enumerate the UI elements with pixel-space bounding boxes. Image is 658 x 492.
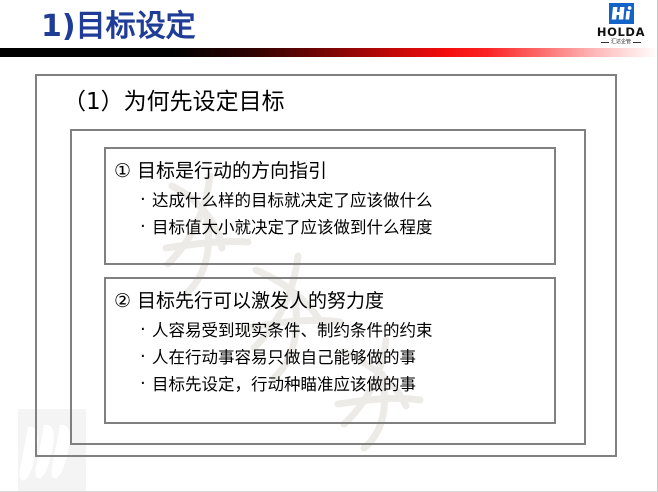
page-title: 1)目标设定	[41, 8, 196, 46]
item-1-heading: ①目标是行动的方向指引	[114, 158, 554, 184]
item-2-number: ②	[114, 290, 131, 312]
list-item: 目标值大小就决定了应该做到什么程度	[106, 214, 554, 241]
list-item: 人在行动事容易只做自己能够做的事	[106, 344, 554, 371]
content-middle-box: ①目标是行动的方向指引 达成什么样的目标就决定了应该做什么 目标值大小就决定了应…	[70, 129, 586, 445]
logo-mark-icon	[609, 3, 634, 24]
logo-wordmark: HOLDA	[593, 26, 649, 38]
logo-rule-right	[633, 42, 641, 43]
item-2-bullet-list: 人容易受到现实条件、制约条件的约束 人在行动事容易只做自己能够做的事 目标先设定…	[106, 317, 554, 398]
item-1-heading-text: 目标是行动的方向指引	[137, 160, 327, 182]
section-heading: （1）为何先设定目标	[63, 86, 285, 118]
item-box-1: ①目标是行动的方向指引 达成什么样的目标就决定了应该做什么 目标值大小就决定了应…	[104, 147, 556, 265]
slide-canvas: 1)目标设定 HOLDA 汇达企管	[0, 0, 658, 492]
item-2-heading-text: 目标先行可以激发人的努力度	[137, 290, 384, 312]
accent-gradient-bar	[0, 48, 658, 57]
logo-subtitle-text: 汇达企管	[611, 39, 631, 45]
content-outer-box: （1）为何先设定目标 ①目标是行动的方向指引 达成什么样的目标就决定了应该做什么…	[35, 74, 617, 457]
item-box-2: ②目标先行可以激发人的努力度 人容易受到现实条件、制约条件的约束 人在行动事容易…	[104, 277, 556, 424]
logo-subtitle: 汇达企管	[593, 39, 649, 45]
logo-rule-left	[601, 42, 609, 43]
item-1-number: ①	[114, 160, 131, 182]
item-1-bullet-list: 达成什么样的目标就决定了应该做什么 目标值大小就决定了应该做到什么程度	[106, 187, 554, 241]
item-2-heading: ②目标先行可以激发人的努力度	[114, 288, 554, 314]
list-item: 目标先设定，行动种瞄准应该做的事	[106, 371, 554, 398]
slide-header: 1)目标设定 HOLDA 汇达企管	[0, 0, 658, 58]
company-logo: HOLDA 汇达企管	[593, 3, 649, 48]
list-item: 人容易受到现实条件、制约条件的约束	[106, 317, 554, 344]
list-item: 达成什么样的目标就决定了应该做什么	[106, 187, 554, 214]
